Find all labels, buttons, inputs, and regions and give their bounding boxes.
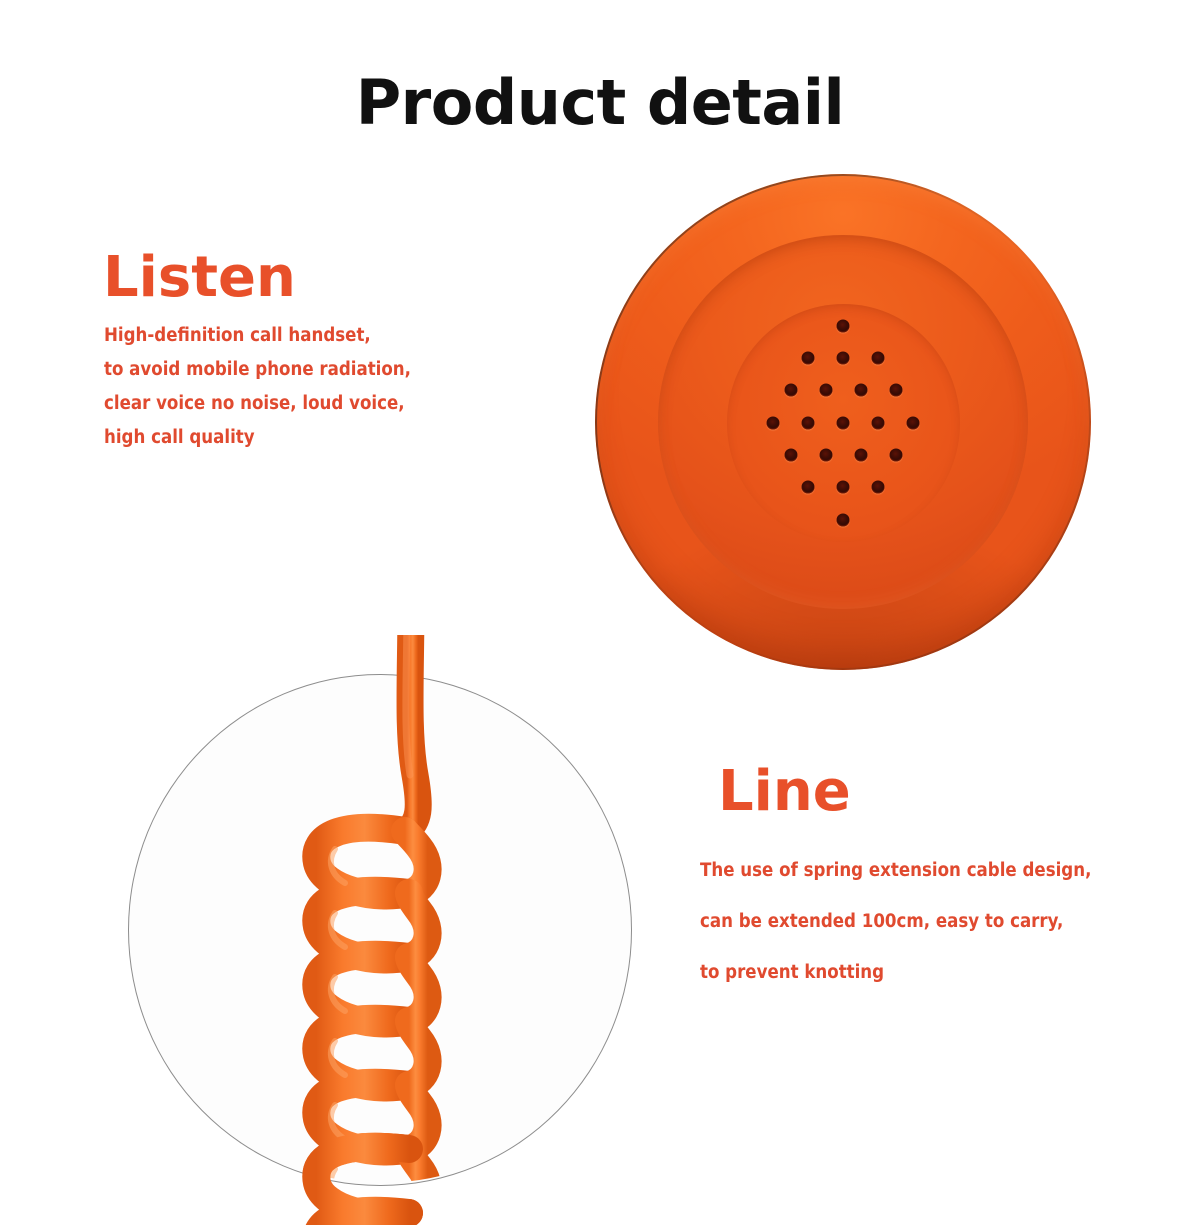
- earpiece-recessed-face: [658, 235, 1028, 609]
- listen-body-line-3: clear voice no noise, loud voice,: [104, 393, 411, 414]
- line-body-line-2: can be extended 100cm, easy to carry,: [700, 911, 1091, 932]
- cable-photo: [128, 674, 632, 1186]
- speaker-hole: [819, 448, 832, 461]
- speaker-hole: [837, 351, 850, 364]
- speaker-hole: [854, 384, 867, 397]
- speaker-hole: [872, 351, 885, 364]
- earpiece-speaker-plate: [727, 304, 960, 542]
- speaker-hole: [784, 448, 797, 461]
- line-body-line-3: to prevent knotting: [700, 962, 1091, 983]
- speaker-hole: [872, 481, 885, 494]
- speaker-hole: [907, 416, 920, 429]
- speaker-hole: [819, 384, 832, 397]
- speaker-hole: [837, 513, 850, 526]
- speaker-hole: [802, 481, 815, 494]
- speaker-hole: [837, 319, 850, 332]
- line-body-line-1: The use of spring extension cable design…: [700, 860, 1091, 881]
- listen-body-line-1: High-definition call handset,: [104, 325, 411, 346]
- cable-tail: [406, 635, 418, 831]
- speaker-hole: [837, 416, 850, 429]
- speaker-hole: [802, 351, 815, 364]
- coiled-cable-illustration: [89, 635, 671, 1225]
- speaker-hole: [889, 448, 902, 461]
- speaker-hole: [784, 384, 797, 397]
- earpiece-shell: [595, 174, 1091, 670]
- cable-coils-below: [316, 1147, 409, 1225]
- section-heading-line: Line: [718, 764, 851, 820]
- speaker-hole: [854, 448, 867, 461]
- listen-body-line-2: to avoid mobile phone radiation,: [104, 359, 411, 380]
- section-body-line: The use of spring extension cable design…: [700, 860, 1091, 1013]
- earpiece-photo: [595, 174, 1091, 670]
- section-heading-listen: Listen: [103, 250, 296, 306]
- speaker-hole: [802, 416, 815, 429]
- section-body-listen: High-definition call handset, to avoid m…: [104, 325, 411, 461]
- speaker-hole: [837, 481, 850, 494]
- speaker-hole: [767, 416, 780, 429]
- speaker-hole: [889, 384, 902, 397]
- listen-body-line-4: high call quality: [104, 427, 411, 448]
- page-title: Product detail: [0, 72, 1200, 134]
- product-detail-page: Product detail Listen High-definition ca…: [0, 0, 1200, 1200]
- cable-photo-clip: [89, 635, 671, 1225]
- speaker-hole: [872, 416, 885, 429]
